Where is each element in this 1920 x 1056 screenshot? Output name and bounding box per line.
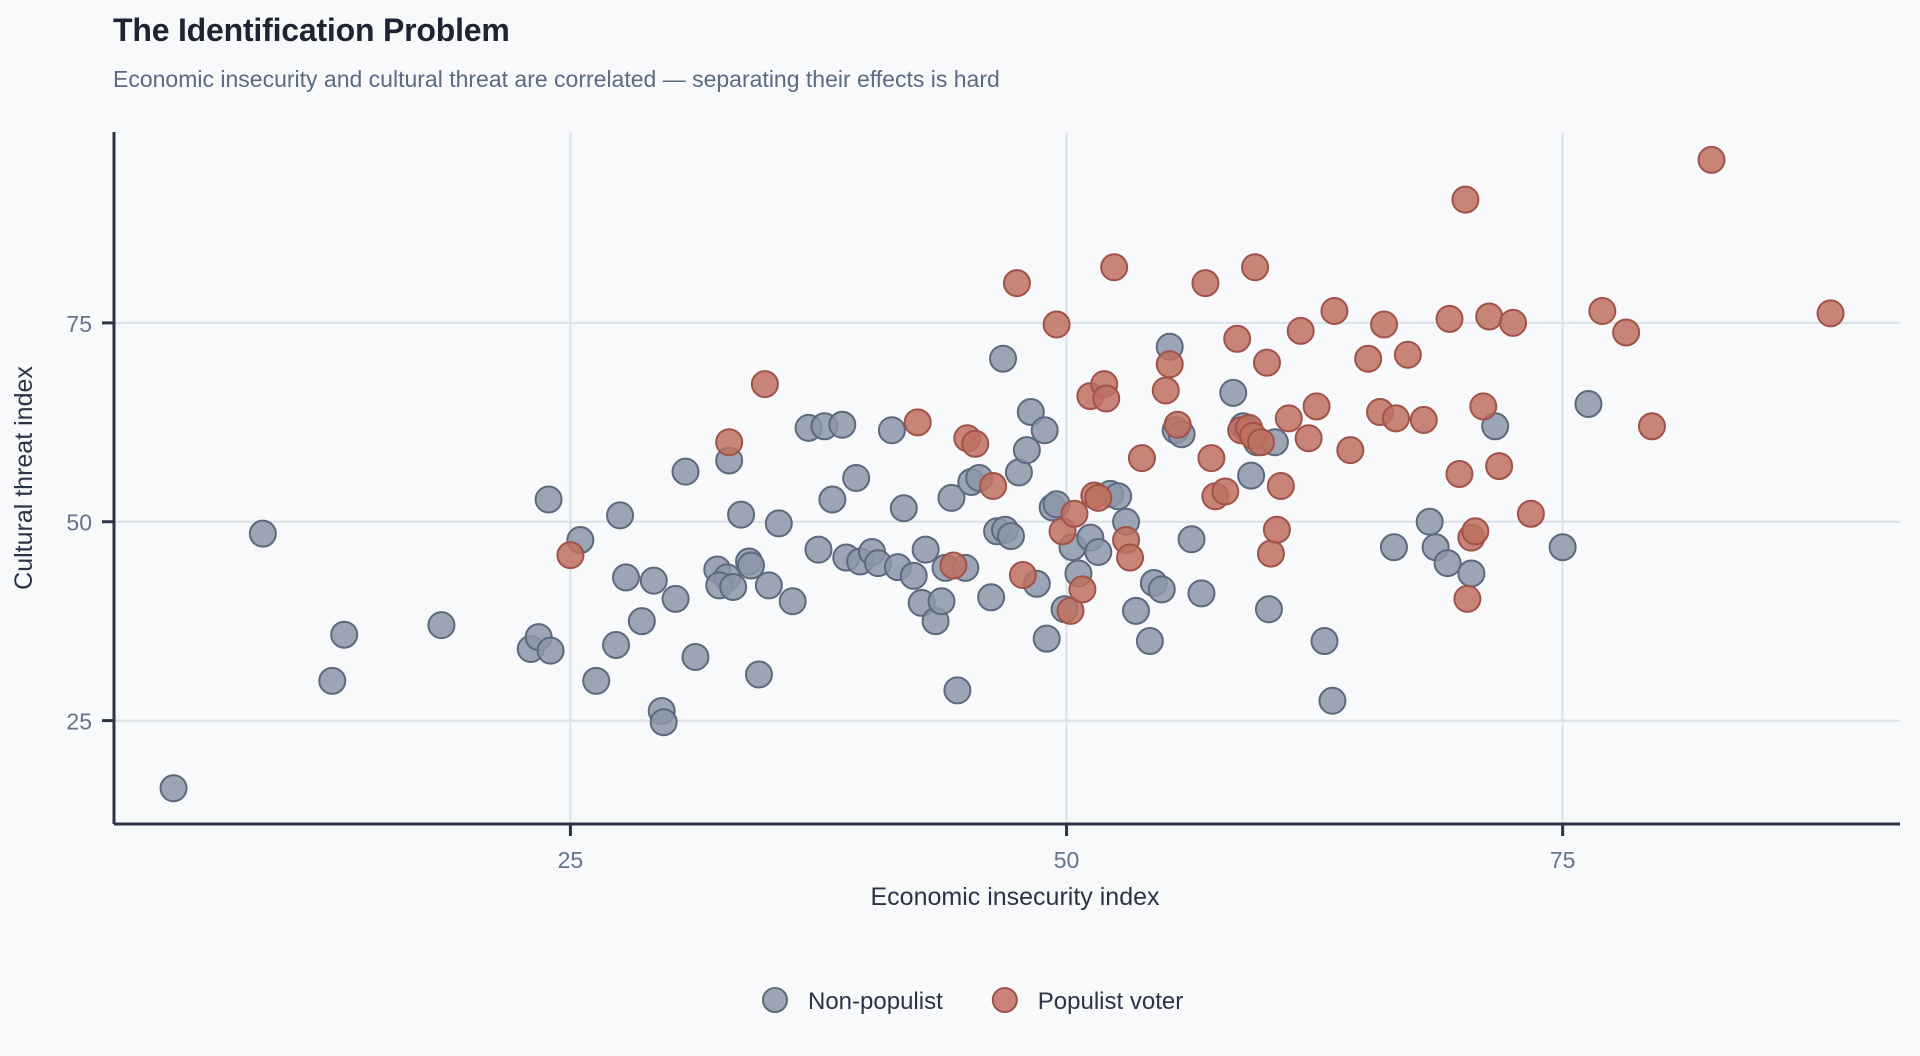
- scatter-point: [1061, 501, 1087, 527]
- scatter-point: [829, 412, 855, 438]
- scatter-point: [1256, 596, 1282, 622]
- scatter-point: [1417, 509, 1443, 535]
- scatter-point: [766, 510, 792, 536]
- scatter-point: [651, 709, 677, 735]
- scatter-point: [990, 346, 1016, 372]
- scatter-point: [1321, 298, 1347, 324]
- scatter-point: [607, 502, 633, 528]
- scatter-point: [1818, 300, 1844, 326]
- scatter-point: [1304, 393, 1330, 419]
- scatter-point: [1454, 586, 1480, 612]
- scatter-point: [1639, 413, 1665, 439]
- scatter-point: [629, 608, 655, 634]
- scatter-point: [319, 668, 345, 694]
- scatter-point: [1550, 534, 1576, 560]
- legend-marker: [763, 988, 787, 1012]
- scatter-point: [250, 521, 276, 547]
- scatter-point: [1258, 541, 1284, 567]
- chart-figure: The Identification Problem Economic inse…: [0, 0, 1920, 1056]
- scatter-point: [1188, 580, 1214, 606]
- scatter-point: [980, 473, 1006, 499]
- scatter-point: [978, 584, 1004, 610]
- scatter-point: [998, 523, 1024, 549]
- scatter-point: [1069, 576, 1095, 602]
- scatter-point: [1312, 628, 1338, 654]
- scatter-point: [1010, 562, 1036, 588]
- scatter-point: [728, 502, 754, 528]
- scatter-point: [1411, 407, 1437, 433]
- scatter-point: [1589, 298, 1615, 324]
- scatter-point: [1458, 560, 1484, 586]
- legend-marker: [993, 988, 1017, 1012]
- scatter-point: [1381, 534, 1407, 560]
- data-points: [161, 147, 1844, 801]
- scatter-point: [603, 632, 629, 658]
- scatter-point: [536, 486, 562, 512]
- scatter-point: [1149, 576, 1175, 602]
- scatter-point: [1101, 254, 1127, 280]
- scatter-point: [1004, 270, 1030, 296]
- scatter-point: [1518, 501, 1544, 527]
- scatter-point: [1129, 445, 1155, 471]
- scatter-point: [1470, 393, 1496, 419]
- scatter-point: [1383, 405, 1409, 431]
- scatter-point: [1093, 385, 1119, 411]
- scatter-point: [905, 409, 931, 435]
- scatter-point: [913, 537, 939, 563]
- scatter-plot: 255075255075 Economic insecurity index C…: [0, 0, 1920, 1056]
- scatter-point: [1268, 473, 1294, 499]
- scatter-point: [1179, 526, 1205, 552]
- scatter-point: [1288, 318, 1314, 344]
- scatter-point: [1435, 550, 1461, 576]
- scatter-point: [891, 495, 917, 521]
- scatter-point: [944, 677, 970, 703]
- scatter-point: [1242, 254, 1268, 280]
- scatter-point: [746, 661, 772, 687]
- scatter-point: [1698, 147, 1724, 173]
- scatter-point: [1486, 453, 1512, 479]
- scatter-point: [1337, 437, 1363, 463]
- scatter-point: [583, 668, 609, 694]
- scatter-point: [1395, 342, 1421, 368]
- scatter-point: [843, 465, 869, 491]
- scatter-point: [1296, 425, 1322, 451]
- y-tick-label: 75: [66, 311, 92, 337]
- scatter-point: [1032, 417, 1058, 443]
- scatter-point: [780, 588, 806, 614]
- scatter-point: [1044, 311, 1070, 337]
- scatter-point: [805, 537, 831, 563]
- scatter-point: [663, 586, 689, 612]
- tick-labels: 255075255075: [66, 311, 1575, 873]
- scatter-point: [1476, 304, 1502, 330]
- legend-label: Populist voter: [1038, 988, 1183, 1015]
- y-tick-label: 25: [66, 709, 92, 735]
- scatter-point: [1198, 445, 1224, 471]
- scatter-point: [1452, 187, 1478, 213]
- scatter-point: [1575, 391, 1601, 417]
- scatter-point: [819, 486, 845, 512]
- scatter-point: [161, 775, 187, 801]
- scatter-point: [1248, 429, 1274, 455]
- scatter-point: [1254, 350, 1280, 376]
- scatter-point: [1500, 310, 1526, 336]
- scatter-point: [557, 542, 583, 568]
- legend: Non-populistPopulist voter: [763, 988, 1183, 1015]
- scatter-point: [1319, 688, 1345, 714]
- x-tick-label: 75: [1550, 847, 1576, 873]
- scatter-point: [1224, 326, 1250, 352]
- scatter-point: [1437, 306, 1463, 332]
- scatter-point: [879, 417, 905, 443]
- tick-marks: [102, 323, 1563, 836]
- scatter-point: [1137, 628, 1163, 654]
- scatter-point: [1276, 405, 1302, 431]
- scatter-point: [962, 431, 988, 457]
- scatter-point: [538, 638, 564, 664]
- scatter-point: [1165, 412, 1191, 438]
- scatter-point: [1123, 598, 1149, 624]
- scatter-point: [1613, 319, 1639, 345]
- scatter-point: [1085, 539, 1111, 565]
- scatter-point: [1157, 351, 1183, 377]
- scatter-point: [1264, 517, 1290, 543]
- scatter-point: [756, 572, 782, 598]
- scatter-point: [1153, 378, 1179, 404]
- scatter-point: [1212, 479, 1238, 505]
- scatter-point: [752, 371, 778, 397]
- scatter-point: [1085, 485, 1111, 511]
- scatter-point: [1355, 346, 1381, 372]
- scatter-point: [673, 459, 699, 485]
- scatter-point: [1446, 461, 1472, 487]
- scatter-point: [1192, 270, 1218, 296]
- scatter-point: [1117, 545, 1143, 571]
- scatter-point: [613, 564, 639, 590]
- scatter-point: [682, 644, 708, 670]
- scatter-point: [1220, 380, 1246, 406]
- scatter-point: [428, 612, 454, 638]
- x-axis-label: Economic insecurity index: [870, 883, 1160, 911]
- scatter-point: [716, 429, 742, 455]
- scatter-point: [720, 574, 746, 600]
- scatter-point: [940, 552, 966, 578]
- scatter-point: [929, 588, 955, 614]
- scatter-point: [331, 622, 357, 648]
- scatter-point: [1462, 518, 1488, 544]
- legend-label: Non-populist: [808, 988, 943, 1015]
- y-tick-label: 50: [66, 510, 92, 536]
- scatter-point: [901, 563, 927, 589]
- scatter-point: [1238, 463, 1264, 489]
- scatter-point: [641, 568, 667, 594]
- y-axis-label: Cultural threat index: [10, 366, 38, 590]
- x-tick-label: 50: [1054, 847, 1080, 873]
- scatter-point: [1371, 311, 1397, 337]
- x-tick-label: 25: [558, 847, 584, 873]
- scatter-point: [1034, 626, 1060, 652]
